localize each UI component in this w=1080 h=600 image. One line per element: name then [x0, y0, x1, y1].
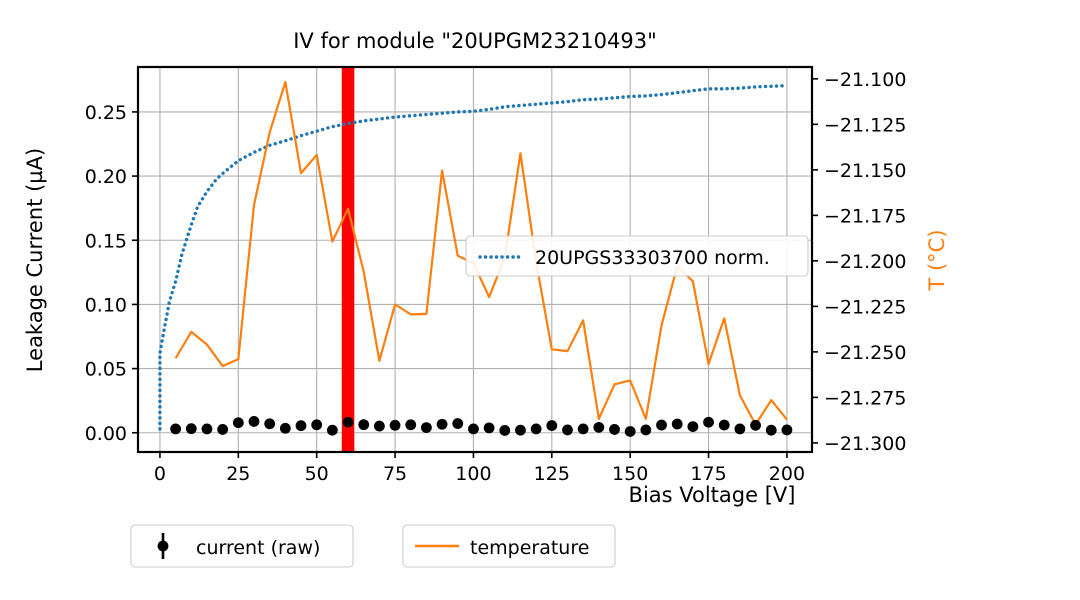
current-data-point [217, 424, 228, 435]
current-data-point [233, 417, 244, 428]
x-tick-label: 175 [690, 463, 726, 485]
current-data-point [782, 425, 793, 436]
current-data-point [452, 418, 463, 429]
legend-label-temperature: temperature [470, 537, 589, 559]
current-data-point [766, 425, 777, 436]
current-data-point [750, 420, 761, 431]
current-data-point [170, 424, 181, 435]
y-tick-label-right: −21.300 [824, 433, 906, 455]
legend-swatch-current-marker [158, 541, 169, 552]
current-data-point [390, 420, 401, 431]
current-data-point [656, 420, 667, 431]
current-data-point [249, 416, 260, 427]
current-data-point [609, 424, 620, 435]
current-data-point [562, 425, 573, 436]
current-data-point [687, 421, 698, 432]
y-axis-title-right: T (°C) [925, 229, 949, 291]
y-tick-label-right: −21.200 [824, 251, 906, 273]
current-data-point [358, 419, 369, 430]
y-tick-label: 0.10 [85, 294, 127, 316]
page-title: IV for module "20UPGM23210493" [293, 29, 657, 53]
y-tick-label-right: −21.150 [824, 160, 906, 182]
current-data-point [421, 422, 432, 433]
figure-canvas: IV for module "20UPGM23210493" 025507510… [0, 0, 1080, 600]
x-tick-label: 100 [455, 463, 491, 485]
x-tick-label: 50 [305, 463, 329, 485]
y-tick-label-right: −21.100 [824, 69, 906, 91]
current-data-point [672, 419, 683, 430]
current-data-point [515, 425, 526, 436]
current-data-point [186, 423, 197, 434]
current-data-point [327, 425, 338, 436]
figure-background [0, 0, 1080, 600]
current-data-point [405, 419, 416, 430]
x-tick-label: 0 [154, 463, 166, 485]
legend-label-reference: 20UPGS33303700 norm. [535, 247, 770, 269]
x-axis-title: Bias Voltage [V] [629, 483, 796, 507]
current-data-point [374, 421, 385, 432]
current-data-point [719, 420, 730, 431]
y-axis-ticks-right: −21.300−21.275−21.250−21.225−21.200−21.1… [812, 69, 906, 455]
y-tick-label-right: −21.175 [824, 205, 906, 227]
iv-curve-chart: IV for module "20UPGM23210493" 025507510… [0, 0, 1080, 600]
x-tick-label: 125 [534, 463, 570, 485]
y-tick-label-right: −21.275 [824, 387, 906, 409]
current-data-point [296, 420, 307, 431]
current-data-point [499, 425, 510, 436]
current-data-point [202, 424, 213, 435]
current-data-point [546, 420, 557, 431]
current-data-point [311, 419, 322, 430]
x-tick-label: 150 [612, 463, 648, 485]
current-data-point [343, 417, 354, 428]
current-data-point [437, 419, 448, 430]
current-data-point [280, 423, 291, 434]
y-tick-label: 0.25 [85, 102, 127, 124]
current-data-point [578, 424, 589, 435]
y-tick-label-right: −21.250 [824, 342, 906, 364]
x-tick-label: 75 [383, 463, 407, 485]
y-tick-label: 0.05 [85, 359, 127, 381]
current-data-point [703, 417, 714, 428]
current-data-point [625, 426, 636, 437]
legend-label-current: current (raw) [196, 537, 320, 559]
y-tick-label-right: −21.125 [824, 114, 906, 136]
current-data-point [531, 424, 542, 435]
y-tick-label: 0.20 [85, 166, 127, 188]
y-tick-label-right: −21.225 [824, 296, 906, 318]
current-data-point [264, 418, 275, 429]
y-axis-title-left: Leakage Current (µA) [23, 148, 47, 372]
current-data-point [640, 425, 651, 436]
x-tick-label: 200 [769, 463, 805, 485]
current-data-point [734, 424, 745, 435]
current-data-point [468, 424, 479, 435]
current-data-point [593, 422, 604, 433]
x-tick-label: 25 [226, 463, 250, 485]
current-data-point [484, 422, 495, 433]
inner-legend[interactable]: 20UPGS33303700 norm. [466, 236, 808, 276]
y-tick-label: 0.00 [85, 423, 127, 445]
y-tick-label: 0.15 [85, 230, 127, 252]
